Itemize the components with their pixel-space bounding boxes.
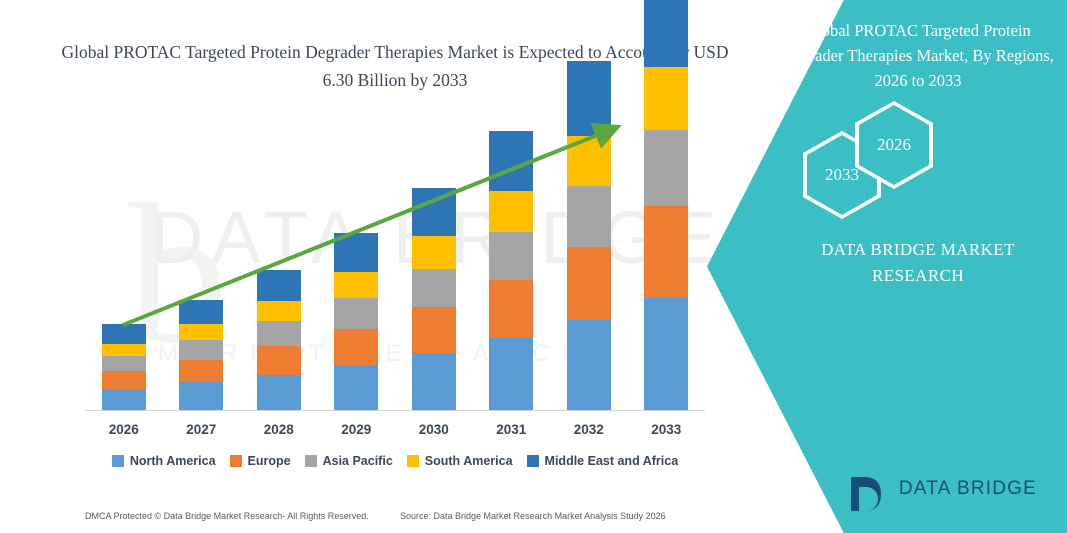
bar-segment <box>102 324 146 343</box>
bar-segment <box>179 300 223 325</box>
footer-copyright: DMCA Protected © Data Bridge Market Rese… <box>85 511 369 521</box>
x-axis-tick-label: 2026 <box>89 422 159 437</box>
bar-segment <box>179 324 223 340</box>
bar-segment <box>567 247 611 320</box>
x-axis-tick-label: 2027 <box>166 422 236 437</box>
bar-segment <box>334 298 378 329</box>
hexagon-badge-end-label: 2026 <box>859 105 929 185</box>
bar-segment <box>567 61 611 136</box>
bar-segment <box>644 130 688 206</box>
x-axis-tick-label: 2033 <box>631 422 701 437</box>
bar-segment <box>257 321 301 346</box>
bar-segment <box>644 206 688 297</box>
legend-swatch <box>527 455 539 467</box>
bar-segment <box>102 344 146 357</box>
chart-legend: North AmericaEuropeAsia PacificSouth Ame… <box>60 454 730 468</box>
bar-segment <box>412 188 456 236</box>
legend-label: Middle East and Africa <box>545 454 679 468</box>
legend-swatch <box>112 455 124 467</box>
bar-segment <box>644 67 688 130</box>
bar-segment <box>257 270 301 301</box>
company-logo: DATA BRIDGE MARKET RESEARCH <box>843 471 1037 517</box>
legend-label: Europe <box>248 454 291 468</box>
bar-group <box>567 61 611 410</box>
bar-group <box>334 233 378 410</box>
legend-label: North America <box>130 454 216 468</box>
chart-title: Global PROTAC Targeted Protein Degrader … <box>60 38 730 94</box>
bar-segment <box>257 301 301 321</box>
bar-segment <box>179 360 223 383</box>
x-axis-tick-label: 2029 <box>321 422 391 437</box>
bar-segment <box>489 280 533 338</box>
logo-text-sub: MARKET RESEARCH <box>899 502 1037 511</box>
panel-title: Global PROTAC Targeted Protein Degrader … <box>779 18 1057 93</box>
chart-plot-area <box>85 110 705 410</box>
bar-group <box>102 324 146 410</box>
bar-segment <box>567 320 611 410</box>
x-axis-tick-labels: 20262027202820292030203120322033 <box>85 422 705 444</box>
legend-item[interactable]: South America <box>407 454 513 468</box>
logo-bridge-icon <box>843 471 889 517</box>
panel-brand-line-2: RESEARCH <box>779 266 1057 286</box>
legend-item[interactable]: Asia Pacific <box>305 454 393 468</box>
bar-group <box>412 188 456 410</box>
bar-segment <box>412 269 456 308</box>
right-info-panel: Global PROTAC Targeted Protein Degrader … <box>707 0 1067 533</box>
panel-brand-line-1: DATA BRIDGE MARKET <box>779 240 1057 260</box>
bar-segment <box>102 356 146 371</box>
bar-segment <box>489 232 533 280</box>
legend-item[interactable]: Europe <box>230 454 291 468</box>
legend-swatch <box>305 455 317 467</box>
bar-segment <box>102 371 146 388</box>
logo-text-main: DATA BRIDGE <box>899 478 1037 500</box>
bar-segment <box>334 233 378 272</box>
legend-swatch <box>407 455 419 467</box>
bar-segment <box>412 307 456 353</box>
bar-group <box>489 131 533 410</box>
legend-item[interactable]: North America <box>112 454 216 468</box>
bar-segment <box>567 136 611 186</box>
bar-segment <box>489 131 533 191</box>
bar-segment <box>412 353 456 410</box>
bar-group <box>257 270 301 410</box>
bar-segment <box>644 298 688 411</box>
bar-segment <box>412 236 456 268</box>
bar-segment <box>489 338 533 410</box>
bar-segment <box>334 329 378 365</box>
footer-source: Source: Data Bridge Market Research Mark… <box>400 511 666 521</box>
x-axis-tick-label: 2031 <box>476 422 546 437</box>
legend-label: South America <box>425 454 513 468</box>
bar-segment <box>257 375 301 410</box>
legend-label: Asia Pacific <box>323 454 393 468</box>
x-axis-tick-label: 2030 <box>399 422 469 437</box>
bar-segment <box>489 191 533 232</box>
legend-item[interactable]: Middle East and Africa <box>527 454 679 468</box>
x-axis-tick-label: 2028 <box>244 422 314 437</box>
bar-group <box>644 0 688 410</box>
bar-segment <box>567 186 611 247</box>
bar-group <box>179 300 223 410</box>
legend-swatch <box>230 455 242 467</box>
bar-segment <box>257 346 301 375</box>
bar-segment <box>644 0 688 67</box>
x-axis-line <box>85 410 705 411</box>
x-axis-tick-label: 2032 <box>554 422 624 437</box>
bar-segment <box>102 389 146 410</box>
bar-segment <box>334 365 378 410</box>
bar-segment <box>179 382 223 410</box>
bar-segment <box>179 340 223 359</box>
bar-segment <box>334 272 378 298</box>
